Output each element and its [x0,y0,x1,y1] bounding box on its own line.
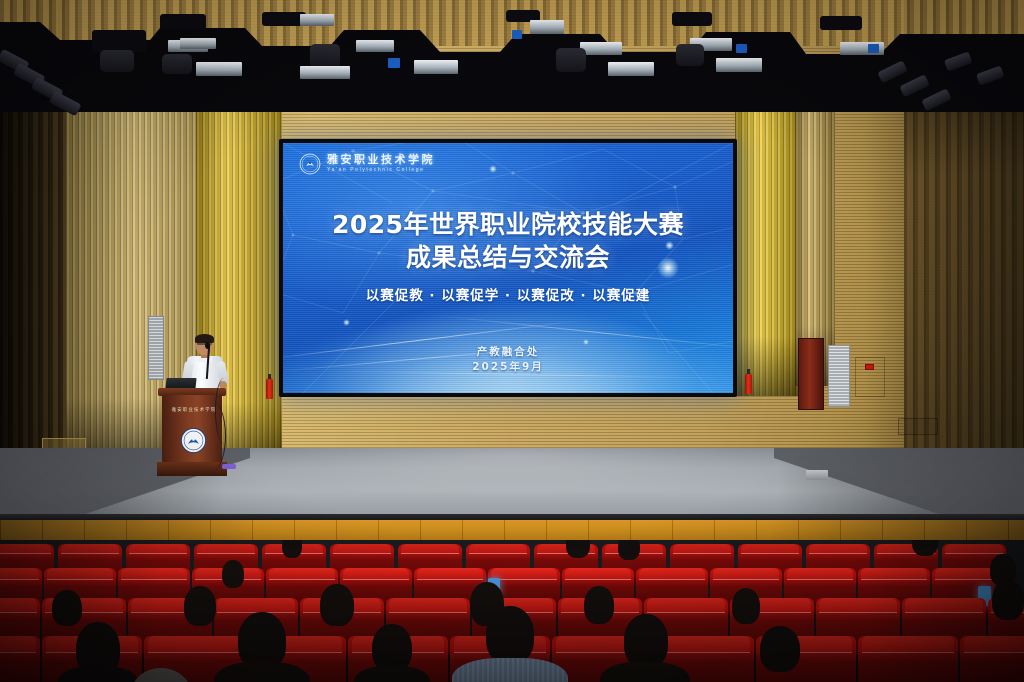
blue-indicator-icon [736,44,747,53]
audience-head [992,580,1024,620]
moving-head-light-icon [100,50,134,72]
blue-indicator-icon [868,44,879,53]
light-lens-icon [196,62,242,76]
light-lens-icon [414,60,458,74]
screen-footer-department: 产教融合处 [283,344,733,359]
screen-school-name: 雅安职业技术学院 Ya'an Polytechnic College [327,155,435,173]
wall-access-panel [898,418,938,435]
audience-head [222,560,244,588]
audience-head [320,584,354,626]
moving-head-light-icon [160,14,206,30]
audience-head [486,606,534,664]
moving-head-light-icon [672,12,712,26]
microphone-head-icon [205,342,210,349]
audience-shoulders [600,662,690,682]
stage-curtain-right-inner [735,96,801,396]
fire-extinguisher-icon [745,373,752,394]
audience-head [760,626,800,672]
audience-head [372,624,412,672]
blue-indicator-icon [512,30,522,39]
stage-apron [0,520,1024,542]
floor-connector [222,464,236,469]
audience-seating [0,540,1024,682]
audience-shoulders [354,666,430,682]
moving-head-light-icon [820,16,862,30]
light-lens-icon [300,14,334,26]
moving-head-light-icon [676,44,704,66]
audience-head [52,590,82,626]
lighting-truss [0,0,1024,112]
screen-title-line-2: 成果总结与交流会 [283,238,733,274]
moving-head-light-icon [556,48,586,72]
side-light-icon [877,60,907,83]
moving-head-light-icon [92,30,146,52]
blue-indicator-icon [388,58,400,68]
air-vent-icon [148,316,164,380]
light-lens-icon [300,66,350,79]
seat [858,636,958,682]
screen-subtitle: 以赛促教 · 以赛促学 · 以赛促改 · 以赛促建 [283,284,733,304]
screen-school-name-en: Ya'an Polytechnic College [327,168,435,173]
side-light-icon [921,88,951,111]
air-vent-icon [828,345,850,407]
side-light-icon [899,74,929,97]
audience-head [624,614,668,668]
auditorium-scene: 雅安职业技术学院 Ya'an Polytechnic College 2025年… [0,0,1024,682]
light-lens-icon [356,40,394,52]
power-cable [196,400,226,472]
audience-head [732,588,760,624]
light-lens-icon [180,38,216,49]
audience-head [618,540,640,560]
audience-head [584,586,614,624]
seat [0,636,40,682]
wall-access-panel [855,357,885,397]
screen-school-logo: 雅安职业技术学院 Ya'an Polytechnic College [299,153,435,175]
light-lens-icon [580,42,622,55]
audience-shoulders-striped-shirt [452,658,568,682]
audience-head [184,586,216,626]
screen-school-name-cn: 雅安职业技术学院 [327,155,435,166]
side-light-icon [976,65,1005,85]
led-screen: 雅安职业技术学院 Ya'an Polytechnic College 2025年… [283,143,733,393]
school-seal-icon [299,153,321,175]
stage-floor-box [806,470,828,480]
side-light-icon [944,51,973,71]
audience-head [566,540,590,558]
screen-footer-date: 2025年9月 [283,359,733,374]
stage-door-icon [798,338,824,410]
led-screen-frame: 雅安职业技术学院 Ya'an Polytechnic College 2025年… [279,139,737,397]
moving-head-light-icon [310,44,340,68]
moving-head-light-icon [162,54,192,74]
fire-alarm-icon [865,364,874,370]
light-lens-icon [530,20,564,34]
light-lens-icon [608,62,654,76]
audience-head [282,540,302,558]
seat [960,636,1024,682]
fire-extinguisher-icon [266,378,273,399]
light-lens-icon [716,58,762,72]
screen-title-line-1: 2025年世界职业院校技能大赛 [283,205,733,241]
